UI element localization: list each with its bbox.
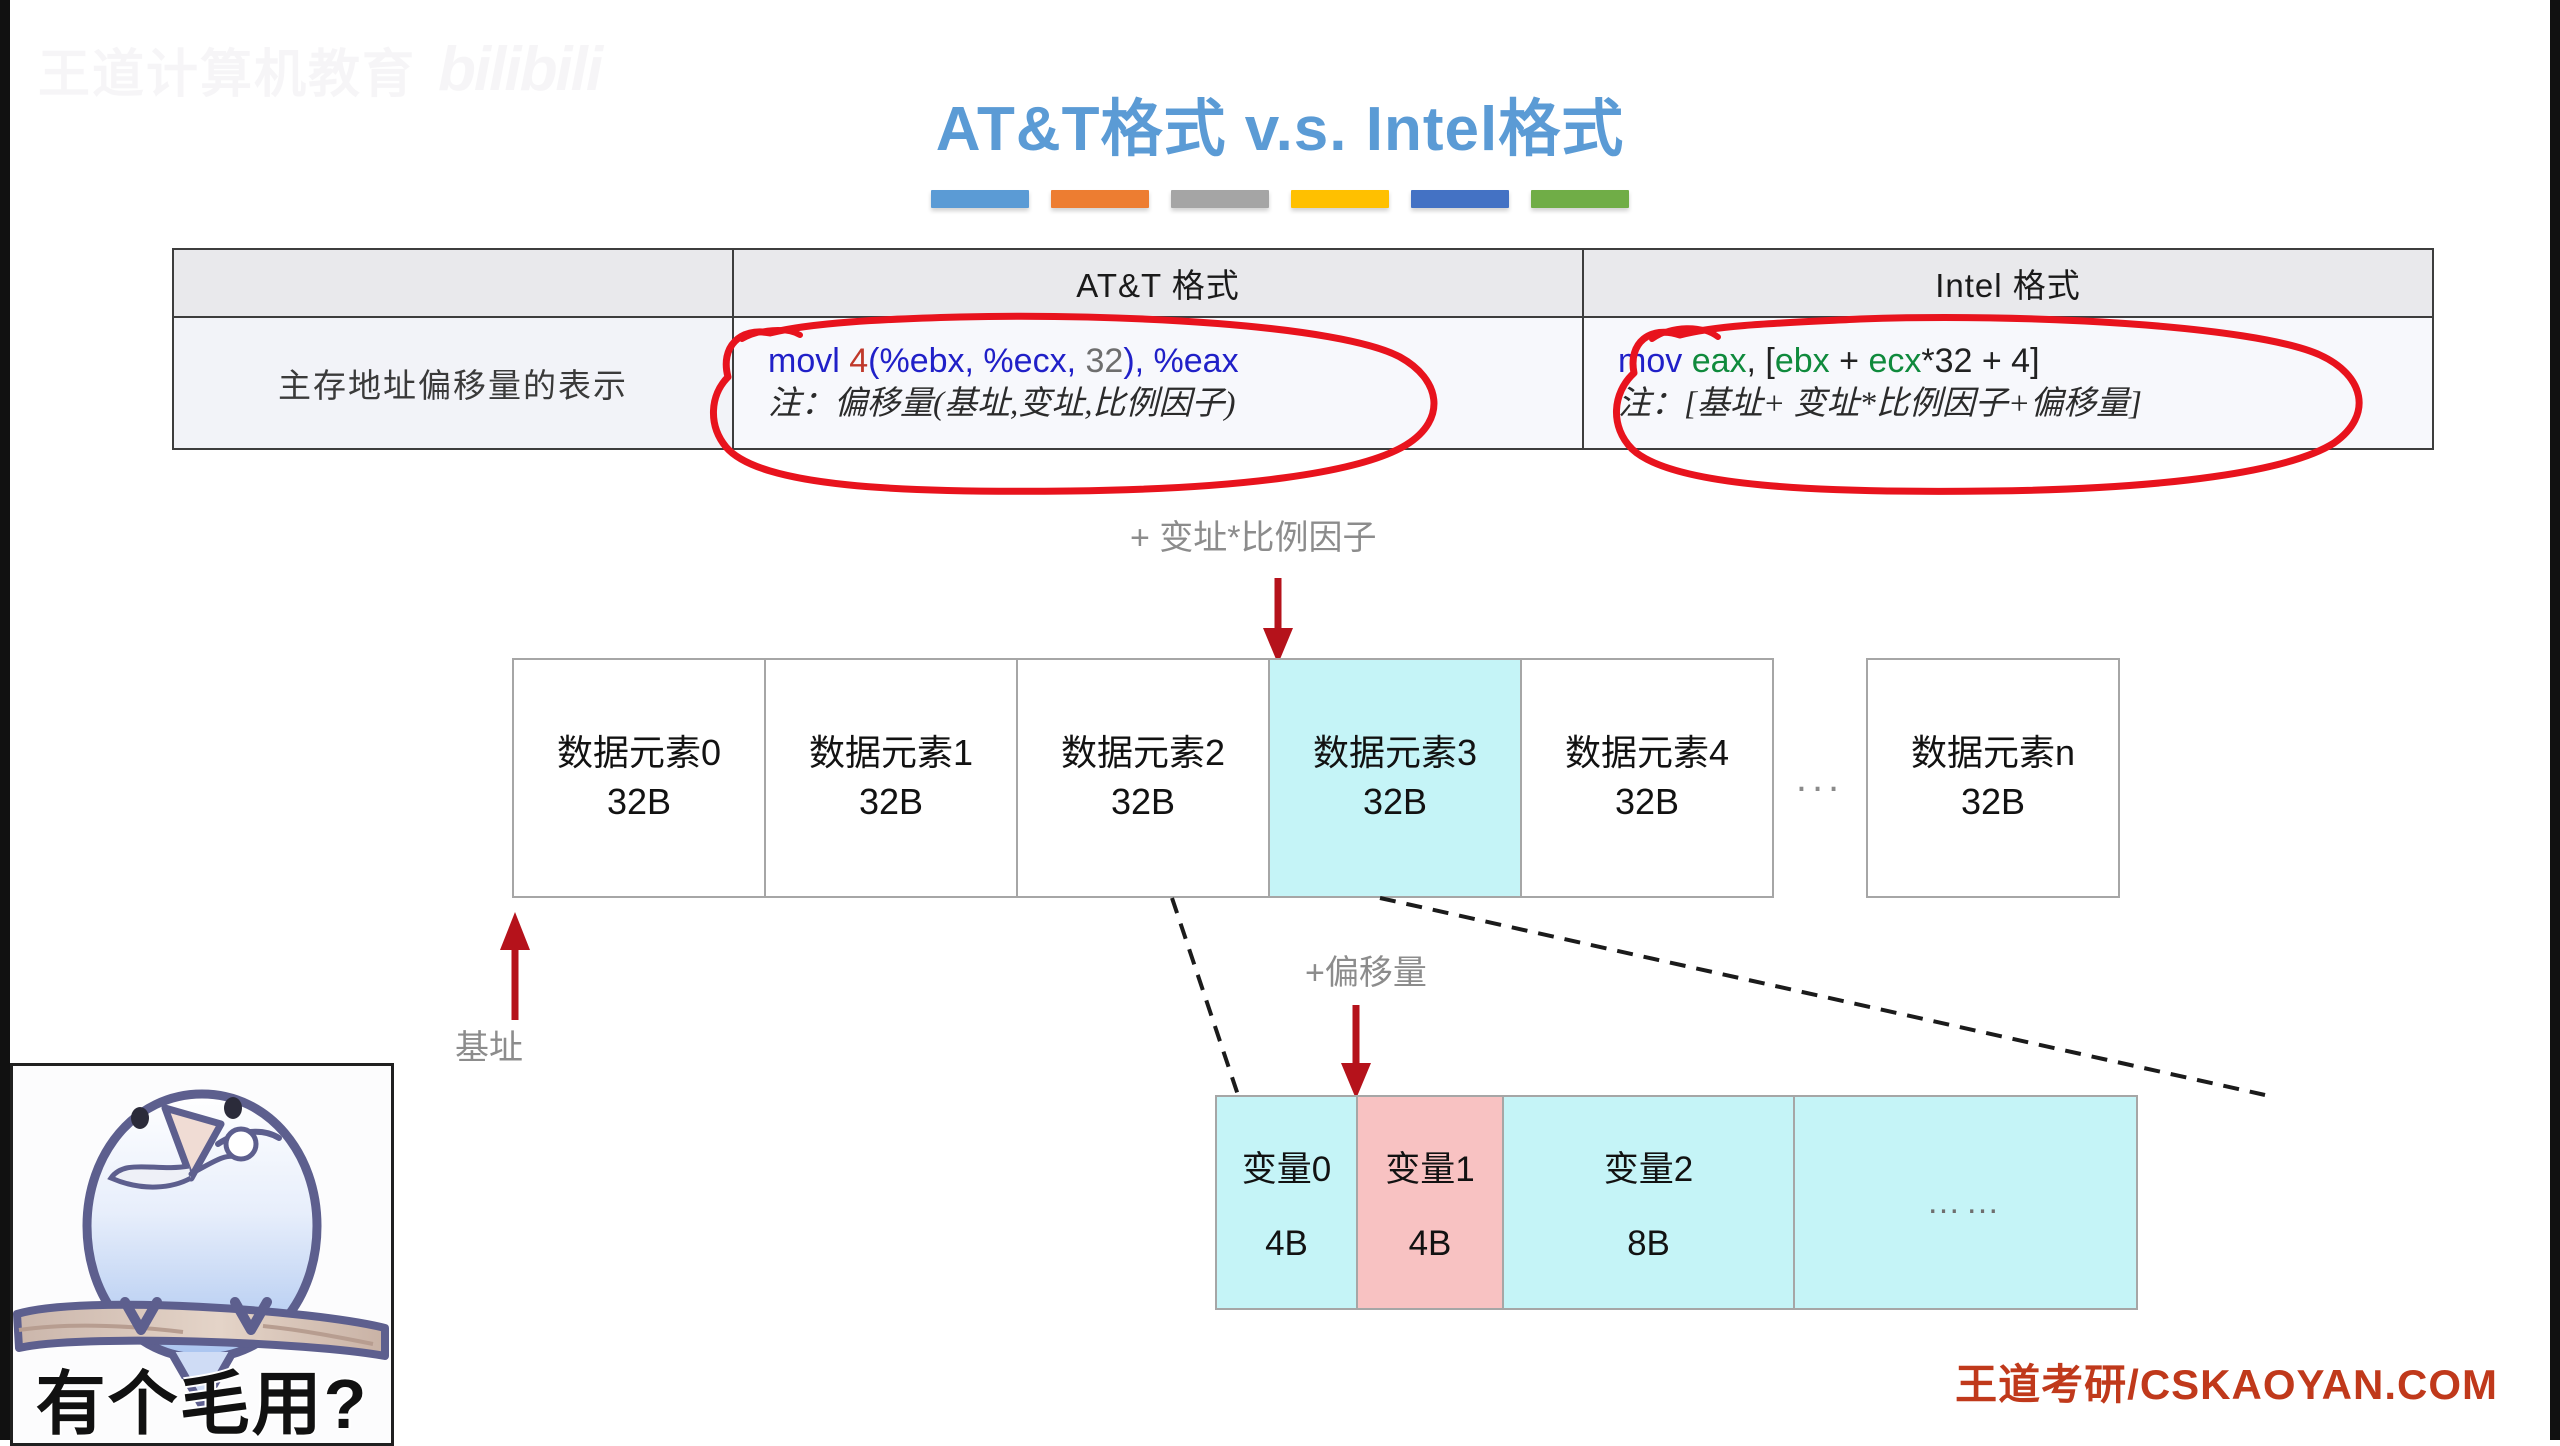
table-header-row: AT&T 格式 Intel 格式	[173, 249, 2433, 317]
intel-base-register: ebx	[1775, 342, 1830, 380]
variable-strip: 变量0 4B 变量1 4B 变量2 8B ……	[1215, 1095, 2138, 1310]
comparison-table: AT&T 格式 Intel 格式 主存地址偏移量的表示 movl 4(%ebx,…	[172, 248, 2434, 450]
variable-name: 变量2	[1604, 1141, 1693, 1192]
color-bar-3	[1171, 190, 1269, 208]
table-row: 主存地址偏移量的表示 movl 4(%ebx, %ecx, 32), %eax …	[173, 317, 2433, 449]
brand-footer: 王道考研/CSKAOYAN.COM	[1955, 1351, 2498, 1412]
element-size: 32B	[1615, 778, 1679, 827]
element-size: 32B	[1961, 778, 2025, 827]
element-size: 32B	[1363, 778, 1427, 827]
color-bar-6	[1531, 190, 1629, 208]
element-size: 32B	[859, 778, 923, 827]
color-bar-5	[1411, 190, 1509, 208]
att-immediate: 4	[849, 342, 868, 380]
intel-mnemonic: mov	[1618, 342, 1682, 380]
element-name: 数据元素2	[1061, 729, 1225, 778]
memory-element: 数据元素0 32B	[512, 658, 766, 898]
mascot-caption: 有个毛用?	[13, 1348, 391, 1446]
intel-tail: *32 + 4]	[1921, 342, 2039, 380]
variable-size: 4B	[1409, 1224, 1452, 1264]
variable-box: 变量0 4B	[1215, 1095, 1358, 1310]
att-code-cell: movl 4(%ebx, %ecx, 32), %eax 注：偏移量(基址,变址…	[733, 317, 1583, 449]
variable-box-highlighted: 变量1 4B	[1356, 1095, 1504, 1310]
color-bar-1	[931, 190, 1029, 208]
variable-size: 8B	[1627, 1224, 1670, 1264]
att-note-line: 注：偏移量(基址,变址,比例因子)	[768, 383, 1582, 426]
variable-name: 变量0	[1242, 1141, 1331, 1192]
memory-element: 数据元素2 32B	[1016, 658, 1270, 898]
element-size: 32B	[607, 778, 671, 827]
header-blank-cell	[173, 249, 733, 317]
intel-code-cell: mov eax, [ebx + ecx*32 + 4] 注：[基址+ 变址*比例…	[1583, 317, 2433, 449]
expansion-connector-lines	[1150, 890, 2310, 1102]
att-mnemonic: movl	[768, 342, 840, 380]
variable-size: 4B	[1265, 1224, 1308, 1264]
left-frame-bar	[0, 0, 10, 1440]
memory-element-strip: 数据元素0 32B 数据元素1 32B 数据元素2 32B 数据元素3 32B …	[512, 658, 2120, 898]
memory-element-selected: 数据元素3 32B	[1268, 658, 1522, 898]
displacement-arrow-icon	[1336, 1005, 1376, 1099]
element-name: 数据元素4	[1565, 729, 1729, 778]
element-name: 数据元素0	[557, 729, 721, 778]
variable-box-ellipsis: ……	[1793, 1095, 2138, 1310]
intel-plus: +	[1830, 342, 1869, 380]
element-name: 数据元素3	[1313, 729, 1477, 778]
page-title: AT&T格式 v.s. Intel格式	[0, 78, 2560, 168]
element-name: 数据元素n	[1911, 729, 2075, 778]
intel-dest-register: eax	[1692, 342, 1747, 380]
element-size: 32B	[1111, 778, 1175, 827]
variable-ellipsis: ……	[1927, 1183, 2005, 1222]
color-bar-strip	[0, 190, 2560, 208]
intel-code-line: mov eax, [ebx + ecx*32 + 4]	[1618, 340, 2432, 383]
att-operand-close: ), %eax	[1123, 342, 1238, 380]
displacement-label: +偏移量	[1305, 945, 1427, 994]
base-address-label: 基址	[455, 1020, 523, 1069]
base-address-arrow-icon	[495, 912, 535, 1020]
right-frame-bar	[2550, 0, 2560, 1440]
att-code-line: movl 4(%ebx, %ecx, 32), %eax	[768, 340, 1582, 383]
memory-ellipsis: ...	[1774, 658, 1866, 898]
memory-element: 数据元素1 32B	[764, 658, 1018, 898]
row-label-cell: 主存地址偏移量的表示	[173, 317, 733, 449]
header-intel-cell: Intel 格式	[1583, 249, 2433, 317]
index-scale-arrow-icon	[1258, 578, 1298, 664]
intel-separator: , [	[1747, 342, 1775, 380]
intel-note-line: 注：[基址+ 变址*比例因子+偏移量]	[1618, 383, 2432, 426]
att-operand-open: (%ebx, %ecx,	[868, 342, 1076, 380]
mascot-image: 有个毛用?	[10, 1063, 394, 1446]
color-bar-2	[1051, 190, 1149, 208]
color-bar-4	[1291, 190, 1389, 208]
header-att-cell: AT&T 格式	[733, 249, 1583, 317]
index-scale-annotation: + 变址*比例因子	[1130, 510, 1377, 559]
memory-element: 数据元素4 32B	[1520, 658, 1774, 898]
att-scale-factor: 32	[1085, 342, 1123, 380]
slide-canvas: 王道计算机教育 bilibili AT&T格式 v.s. Intel格式 AT&…	[0, 0, 2560, 1440]
variable-box: 变量2 8B	[1502, 1095, 1795, 1310]
intel-index-register: ecx	[1868, 342, 1921, 380]
element-name: 数据元素1	[809, 729, 973, 778]
variable-name: 变量1	[1385, 1141, 1474, 1192]
memory-element-last: 数据元素n 32B	[1866, 658, 2120, 898]
